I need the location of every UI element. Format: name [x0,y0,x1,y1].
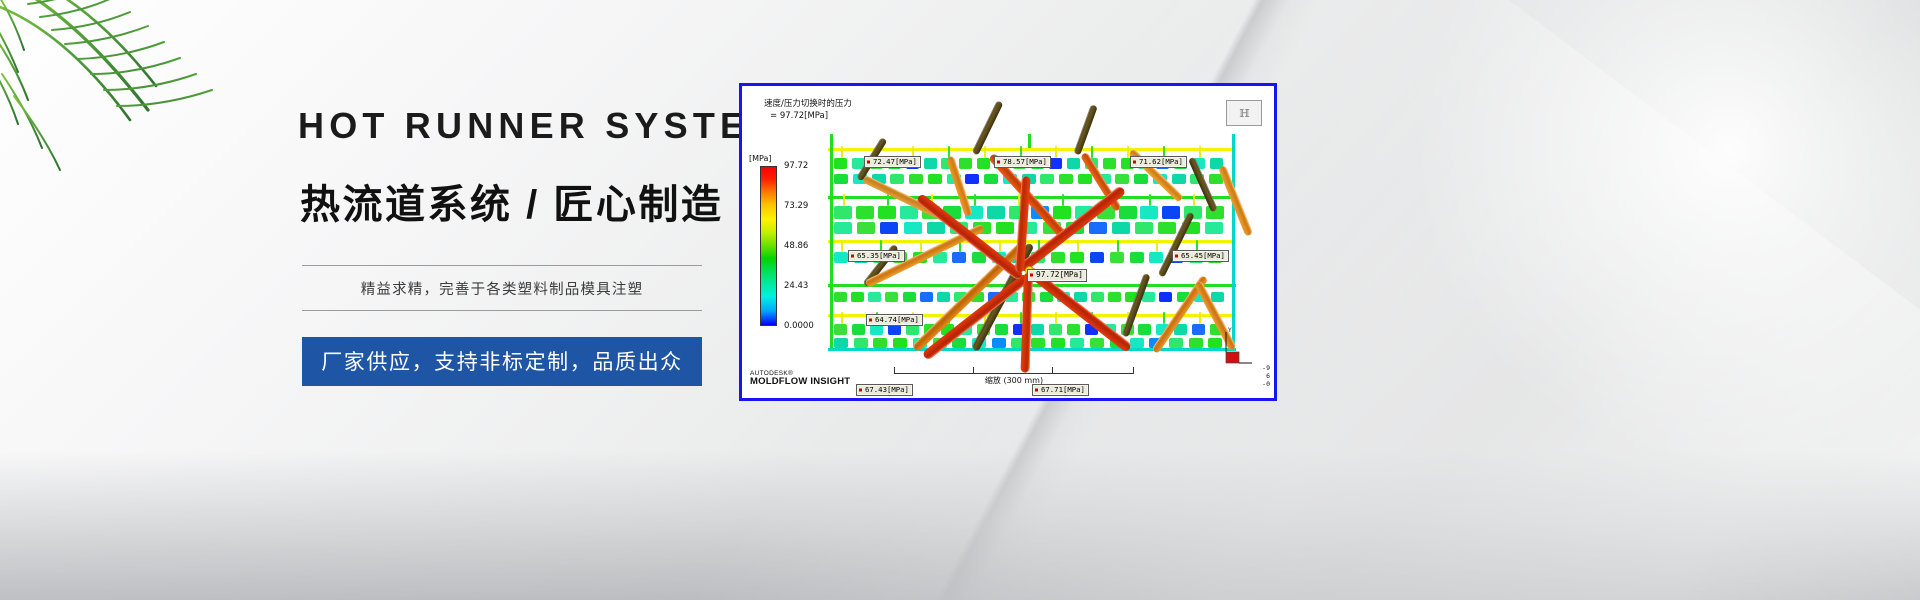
gate-drop [841,240,843,252]
cavity-block [1089,222,1107,234]
cavity-block [1211,292,1224,302]
gate-drop [920,240,922,252]
cavity-block [851,292,864,302]
cavity-block [1192,324,1205,335]
cavity-block [920,292,933,302]
cavity-block [854,338,868,348]
cavity-block [1140,206,1158,219]
cavity-block [834,222,852,234]
gate-drop [984,146,986,158]
cavity-block [928,174,942,184]
cavity-block [927,222,945,234]
cavity-block [856,206,874,219]
cavity-block [1051,338,1065,348]
callout-2: 71.62[MPa] [1130,156,1187,168]
cavity-block [1169,338,1183,348]
callout-3: 65.35[MPa] [848,250,905,262]
subtitle-group: 精益求精，完善于各类塑料制品模具注塑 [302,265,702,311]
cavity-block [834,338,848,348]
callout-1: 78.57[MPa] [994,156,1051,168]
gate-drop [1163,312,1165,324]
cavity-block [1130,252,1144,263]
cavity-block [1110,252,1124,263]
cavity-block [996,222,1014,234]
cavity-block [1049,324,1062,335]
cavity-block [834,158,847,169]
cta-banner[interactable]: 厂家供应，支持非标定制，品质出众 [302,337,702,386]
gate-drop [887,194,889,206]
brand-line-2: MOLDFLOW INSIGHT [750,377,850,388]
cavity-block [834,324,847,335]
cavity-block [1130,338,1144,348]
legend-tick-2: 48.86 [784,241,808,251]
scale-bar-label: 缩放 (300 mm) [894,375,1134,386]
gate-drop [1199,146,1201,158]
gate-drop [999,240,1001,252]
cavity-block [1189,338,1203,348]
cavity-block [1149,252,1163,263]
cavity-block [1090,338,1104,348]
watermark-logo: ℍ [1226,100,1262,126]
color-legend: [MPa] 97.72 73.29 48.86 24.43 0.0000 [748,154,824,326]
cavity-block [1040,174,1054,184]
axis-triad-icon: Y [1216,326,1256,374]
figure-title-line2: = 97.72[MPa] [764,110,852,122]
cavity-block [880,222,898,234]
gate-drop [1193,194,1195,206]
cavity-block [1059,174,1073,184]
cavity-block [1135,222,1153,234]
cavity-block [885,292,898,302]
hero-text-block: HOT RUNNER SYSTEM 热流道系统 / 匠心制造 精益求精，完善于各… [300,108,720,386]
cavity-block [1158,222,1176,234]
cavity-block [1159,292,1172,302]
cavity-block [977,158,990,169]
cavity-block [924,158,937,169]
gate-drop [1199,312,1201,324]
subtitle-text: 精益求精，完善于各类塑料制品模具注塑 [302,266,702,310]
cavity-block [965,174,979,184]
cavity-block [1051,252,1065,263]
moldflow-canvas: 速度/压力切换时的压力 = 97.72[MPa] ℍ [MPa] 97.72 7… [744,88,1272,396]
cavity-block [834,174,848,184]
cavity-block [1108,292,1121,302]
cavity-block [873,338,887,348]
gate-drop [841,312,843,324]
side-rail-right [1232,134,1235,348]
page-title-english: HOT RUNNER SYSTEM [298,108,720,144]
cavity-block [852,324,865,335]
cavity-block [904,222,922,234]
cavity-block [868,292,881,302]
color-gradient-bar [760,166,777,326]
legend-tick-1: 73.29 [784,201,808,211]
cavity-block [834,292,847,302]
autodesk-brand: AUTODESK® MOLDFLOW INSIGHT [750,370,850,388]
cavity-block [1172,174,1186,184]
hero-banner: HOT RUNNER SYSTEM 热流道系统 / 匠心制造 精益求精，完善于各… [0,0,1920,600]
hot-runner-bar [1218,165,1253,237]
cavity-block [1112,222,1130,234]
cavity-block [1031,324,1044,335]
cavity-block [1119,206,1137,219]
cavity-block [995,324,1008,335]
cavity-block [1031,338,1045,348]
cavity-block [1103,158,1116,169]
svg-text:Y: Y [1227,327,1232,334]
cavity-block [984,174,998,184]
cavity-block [1070,252,1084,263]
cavity-block [834,252,848,263]
cooling-rail [828,348,1236,351]
callout-0: 72.47[MPa] [864,156,921,168]
callout-4: 97.72[MPa] [1027,269,1087,282]
axis-y-value: 6 [1262,372,1270,380]
cavity-block [1078,174,1092,184]
callout-5: 65.45[MPa] [1172,250,1229,262]
cavity-block [952,252,966,263]
callout-6: 64.74[MPa] [866,314,923,326]
cavity-block [1053,206,1071,219]
cavity-block [903,292,916,302]
axis-x-value: -9 [1262,364,1270,372]
cavity-block [1205,222,1223,234]
cavity-block [1142,292,1155,302]
gate-drop [841,146,843,158]
sprue-stem [1028,134,1031,148]
cavity-block [857,222,875,234]
side-rail-left [830,134,833,348]
cavity-block [890,174,904,184]
gate-drop [1062,194,1064,206]
figure-title-line1: 速度/压力切换时的压力 [764,98,852,110]
page-title-chinese: 热流道系统 / 匠心制造 [300,185,720,225]
cavity-block [1162,206,1180,219]
corner-gloss [1420,0,1920,460]
cavity-block [937,292,950,302]
cavity-block [1090,252,1104,263]
cavity-block [1067,324,1080,335]
plot-area: 72.47[MPa] 78.57[MPa] 71.62[MPa] 65.35[M… [828,134,1236,356]
cavity-block [959,158,972,169]
cavity-block [834,206,852,219]
gate-drop [1091,146,1093,158]
axis-coordinates: -9 6 -0 [1262,364,1270,388]
cavity-block [992,338,1006,348]
legend-body: 97.72 73.29 48.86 24.43 0.0000 [748,166,824,326]
scale-bar-track [894,365,1134,374]
cavity-block [893,338,907,348]
gate-drop [843,194,845,206]
palm-leaf-decoration [0,0,280,210]
hot-runner-bar [1021,273,1033,373]
moldflow-figure: 速度/压力切换时的压力 = 97.72[MPa] ℍ [MPa] 97.72 7… [739,83,1277,401]
gate-drop [1117,240,1119,252]
legend-tick-3: 24.43 [784,281,808,291]
cavity-block [1067,158,1080,169]
cavity-block [1070,338,1084,348]
legend-tick-0: 97.72 [784,161,808,171]
cavity-block [1138,324,1151,335]
cavity-block [878,206,896,219]
divider-bottom [302,310,702,311]
manifold-rail-1 [828,148,1236,151]
cavity-block [909,174,923,184]
cavity-block [1091,292,1104,302]
scale-bar: 缩放 (300 mm) [894,365,1134,386]
axis-z-value: -0 [1262,380,1270,388]
cavity-block [1134,174,1148,184]
cavity-block [987,206,1005,219]
cavity-block [1115,174,1129,184]
gate-drop [1156,240,1158,252]
figure-title: 速度/压力切换时的压力 = 97.72[MPa] [764,98,852,123]
legend-tick-4: 0.0000 [784,321,814,331]
scale-bar-line [894,373,1134,374]
